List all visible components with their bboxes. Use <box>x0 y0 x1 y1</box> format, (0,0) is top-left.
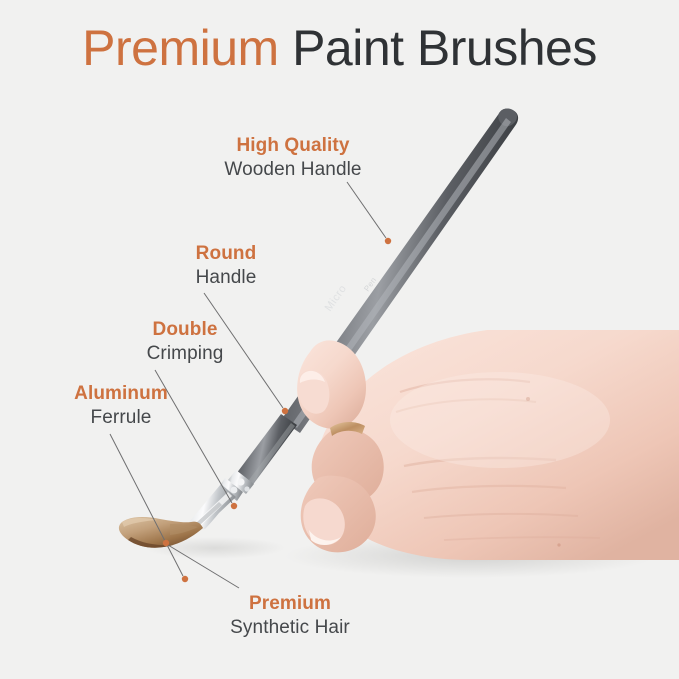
product-infographic: Premium Paint Brushes <box>0 0 679 679</box>
svg-text:Micro: Micro <box>323 283 350 314</box>
callout-subtitle: Handle <box>136 266 316 289</box>
callout-subtitle: Ferrule <box>26 406 216 429</box>
callout-title: High Quality <box>186 134 400 157</box>
callout-double-crimping: Double Crimping <box>92 318 278 365</box>
callout-aluminum-ferrule: Aluminum Ferrule <box>26 382 216 429</box>
callout-high-quality-wooden-handle: High Quality Wooden Handle <box>186 134 400 181</box>
callout-title: Aluminum <box>26 382 216 405</box>
callout-premium-synthetic-hair: Premium Synthetic Hair <box>196 592 384 639</box>
callout-title: Round <box>136 242 316 265</box>
callout-subtitle: Wooden Handle <box>186 158 400 181</box>
callout-round-handle: Round Handle <box>136 242 316 289</box>
callout-title: Premium <box>196 592 384 615</box>
callout-subtitle: Crimping <box>92 342 278 365</box>
callout-subtitle: Synthetic Hair <box>196 616 384 639</box>
brush-lower-shaft <box>236 414 297 487</box>
hand <box>297 330 679 560</box>
callout-title: Double <box>92 318 278 341</box>
